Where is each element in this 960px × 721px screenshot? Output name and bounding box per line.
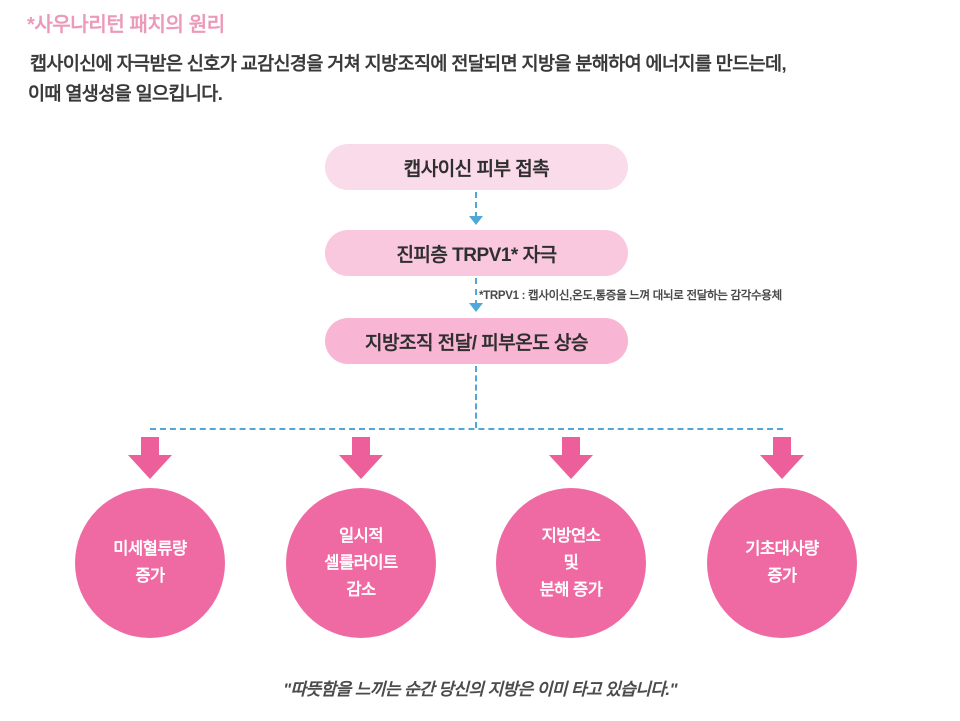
result-line-1: 일시적 (339, 523, 383, 550)
infographic-canvas: *사우나리턴 패치의 원리 캡사이신에 자극받은 신호가 교감신경을 거쳐 지방… (0, 0, 960, 721)
arrow-stem (773, 437, 791, 456)
result-arrow-3-icon (549, 437, 593, 479)
arrow-head (549, 455, 593, 479)
page-title: *사우나리턴 패치의 원리 (27, 8, 225, 37)
result-line-1: 미세혈류량 (113, 536, 186, 563)
intro-line-2: 이때 열생성을 일으킵니다. (30, 79, 935, 109)
result-line-3: 분해 증가 (540, 577, 603, 604)
result-line-2: 셀룰라이트 (324, 550, 397, 577)
result-line-2: 및 (564, 550, 579, 577)
result-line-3: 감소 (346, 577, 375, 604)
arrow-head (339, 455, 383, 479)
arrow-stem (562, 437, 580, 456)
flow-arrowhead-2-icon (469, 303, 483, 312)
flow-distribution-line (150, 428, 783, 430)
arrow-stem (352, 437, 370, 456)
result-arrow-4-icon (760, 437, 804, 479)
result-line-1: 지방연소 (542, 523, 601, 550)
trpv1-footnote: *TRPV1 : 캡사이신,온도,통증을 느껴 대뇌로 전달하는 감각수용체 (479, 287, 782, 303)
flow-arrowhead-1-icon (469, 216, 483, 225)
flow-step-3: 지방조직 전달/ 피부온도 상승 (325, 318, 628, 364)
result-circle-1: 미세혈류량 증가 (75, 488, 225, 638)
arrow-head (760, 455, 804, 479)
arrow-stem (141, 437, 159, 456)
result-circle-4: 기초대사량 증가 (707, 488, 857, 638)
intro-line-1: 캡사이신에 자극받은 신호가 교감신경을 거쳐 지방조직에 전달되면 지방을 분… (30, 49, 935, 79)
result-line-2: 증가 (135, 563, 164, 590)
result-line-1: 기초대사량 (745, 536, 818, 563)
result-line-2: 증가 (767, 563, 796, 590)
footer-quote: "따뜻함을 느끼는 순간 당신의 지방은 이미 타고 있습니다." (0, 675, 960, 700)
flow-step-1: 캡사이신 피부 접촉 (325, 144, 628, 190)
flow-connector-3 (475, 366, 479, 428)
result-circle-2: 일시적 셀룰라이트 감소 (286, 488, 436, 638)
flow-connector-1 (475, 192, 479, 218)
arrow-head (128, 455, 172, 479)
result-arrow-1-icon (128, 437, 172, 479)
flow-step-2: 진피층 TRPV1* 자극 (325, 230, 628, 276)
result-circle-3: 지방연소 및 분해 증가 (496, 488, 646, 638)
intro-paragraph: 캡사이신에 자극받은 신호가 교감신경을 거쳐 지방조직에 전달되면 지방을 분… (30, 49, 935, 109)
result-arrow-2-icon (339, 437, 383, 479)
